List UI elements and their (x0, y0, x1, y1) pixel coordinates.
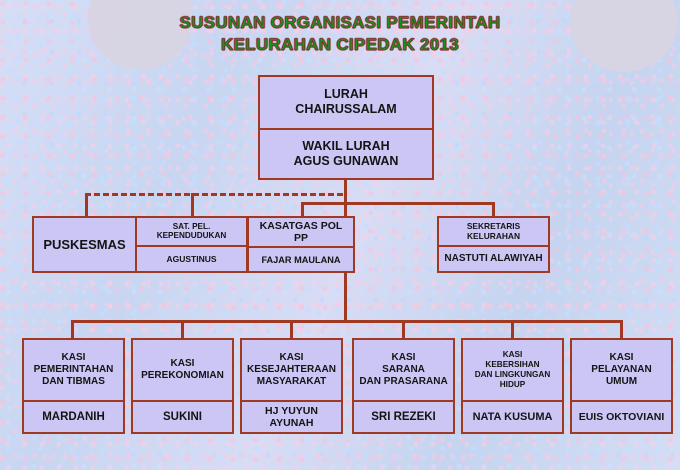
node-kasi-5-line-1: KASI (503, 350, 523, 360)
connector-drop-kasi-6 (620, 320, 623, 339)
connector-head-trunk (344, 180, 347, 204)
connector-drop-kasatgas (301, 202, 304, 217)
node-lurah-position-block: LURAH CHAIRUSSALAM (260, 77, 432, 128)
node-kasi-3-line-1: KASI (280, 352, 304, 364)
node-kasi-4-position-block: KASI SARANA DAN PRASARANA (354, 340, 453, 400)
node-kasi-5-position-block: KASI KEBERSIHAN DAN LINGKUNGAN HIDUP (463, 340, 562, 400)
chart-title-line-1: SUSUNAN ORGANISASI PEMERINTAH (0, 12, 680, 34)
connector-drop-kasi-4 (402, 320, 405, 339)
node-kasi-6-line-1: KASI (610, 352, 634, 364)
node-wakil-lurah-block: WAKIL LURAH AGUS GUNAWAN (260, 128, 432, 178)
connector-drop-sekretaris (492, 202, 495, 217)
node-sat-pel-kependudukan-name: AGUSTINUS (137, 245, 246, 271)
node-kasi-5-name: NATA KUSUMA (463, 400, 562, 432)
node-kasi-2-position-block: KASI PEREKONOMIAN (133, 340, 232, 400)
node-sekretaris-kelurahan[interactable]: SEKRETARIS KELURAHAN NASTUTI ALAWIYAH (437, 216, 550, 273)
node-wakil-lurah-name: AGUS GUNAWAN (294, 154, 399, 169)
node-kasi-6-position-block: KASI PELAYANAN UMUM (572, 340, 671, 400)
node-kasi-1-name: MARDANIH (24, 400, 123, 432)
node-kasi-5-line-3: DAN LINGKUNGAN HIDUP (466, 370, 559, 390)
node-kasi-4-line-2: SARANA (382, 364, 425, 376)
node-kasi-4-name: SRI REZEKI (354, 400, 453, 432)
node-kasi-pelayanan-umum[interactable]: KASI PELAYANAN UMUM EUIS OKTOVIANI (570, 338, 673, 434)
node-puskesmas-position: PUSKESMAS (34, 218, 135, 271)
chart-title-line-2: KELURAHAN CIPEDAK 2013 (0, 34, 680, 56)
node-kasi-3-line-3: MASYARAKAT (257, 376, 326, 388)
connector-drop-kasi-1 (71, 320, 74, 339)
node-kasatgas-pol-pp[interactable]: KASATGAS POL PP FAJAR MAULANA (247, 216, 355, 273)
org-chart-canvas: SUSUNAN ORGANISASI PEMERINTAH KELURAHAN … (0, 0, 680, 470)
node-kasi-1-line-1: KASI (62, 352, 86, 364)
node-kasi-sarana-dan-prasarana[interactable]: KASI SARANA DAN PRASARANA SRI REZEKI (352, 338, 455, 434)
node-kasi-3-name: HJ YUYUN AYUNAH (242, 400, 341, 432)
node-kasi-6-name: EUIS OKTOVIANI (572, 400, 671, 432)
node-kasi-kebersihan-dan-lingkungan-hidup[interactable]: KASI KEBERSIHAN DAN LINGKUNGAN HIDUP NAT… (461, 338, 564, 434)
chart-title: SUSUNAN ORGANISASI PEMERINTAH KELURAHAN … (0, 12, 680, 56)
node-kasi-4-line-3: DAN PRASARANA (359, 376, 447, 388)
node-kasi-4-line-1: KASI (392, 352, 416, 364)
node-wakil-lurah-position: WAKIL LURAH (302, 139, 389, 154)
node-kasatgas-pol-pp-name: FAJAR MAULANA (249, 246, 353, 271)
node-kasi-2-name: SUKINI (133, 400, 232, 432)
node-kasi-1-line-3: DAN TIBMAS (42, 376, 105, 388)
node-kasatgas-pol-pp-position: KASATGAS POL PP (249, 218, 353, 246)
connector-drop-kasi-2 (181, 320, 184, 339)
connector-level2-bus (301, 202, 495, 205)
node-sat-pel-kependudukan[interactable]: SAT. PEL. KEPENDUDUKAN AGUSTINUS (135, 216, 248, 273)
connector-dashed-bus (85, 193, 343, 196)
connector-level3-bus (71, 320, 622, 323)
node-lurah[interactable]: LURAH CHAIRUSSALAM WAKIL LURAH AGUS GUNA… (258, 75, 434, 180)
node-sat-pel-kependudukan-position: SAT. PEL. KEPENDUDUKAN (137, 218, 246, 245)
node-kasi-1-position-block: KASI PEMERINTAHAN DAN TIBMAS (24, 340, 123, 400)
node-kasi-2-line-2: PEREKONOMIAN (141, 370, 224, 382)
connector-drop-kasi-3 (290, 320, 293, 339)
node-sekretaris-kelurahan-position: SEKRETARIS KELURAHAN (439, 218, 548, 245)
node-kasi-pemerintahan-dan-tibmas[interactable]: KASI PEMERINTAHAN DAN TIBMAS MARDANIH (22, 338, 125, 434)
node-lurah-name: CHAIRUSSALAM (295, 102, 396, 117)
node-kasi-5-line-2: KEBERSIHAN (485, 360, 539, 370)
node-kasi-perekonomian[interactable]: KASI PEREKONOMIAN SUKINI (131, 338, 234, 434)
node-lurah-position: LURAH (324, 87, 368, 102)
connector-dashed-drop-satpel (191, 193, 194, 217)
node-kasi-kesejahteraan-masyarakat[interactable]: KASI KESEJAHTERAAN MASYARAKAT HJ YUYUN A… (240, 338, 343, 434)
connector-drop-kasi-5 (511, 320, 514, 339)
node-puskesmas[interactable]: PUSKESMAS (32, 216, 137, 273)
node-kasi-6-line-2: PELAYANAN UMUM (575, 364, 668, 388)
node-sekretaris-kelurahan-name: NASTUTI ALAWIYAH (439, 245, 548, 271)
node-kasi-3-line-2: KESEJAHTERAAN (247, 364, 336, 376)
connector-dashed-drop-puskesmas (85, 193, 88, 217)
node-kasi-2-line-1: KASI (171, 358, 195, 370)
node-kasi-1-line-2: PEMERINTAHAN (34, 364, 114, 376)
node-kasi-3-position-block: KASI KESEJAHTERAAN MASYARAKAT (242, 340, 341, 400)
